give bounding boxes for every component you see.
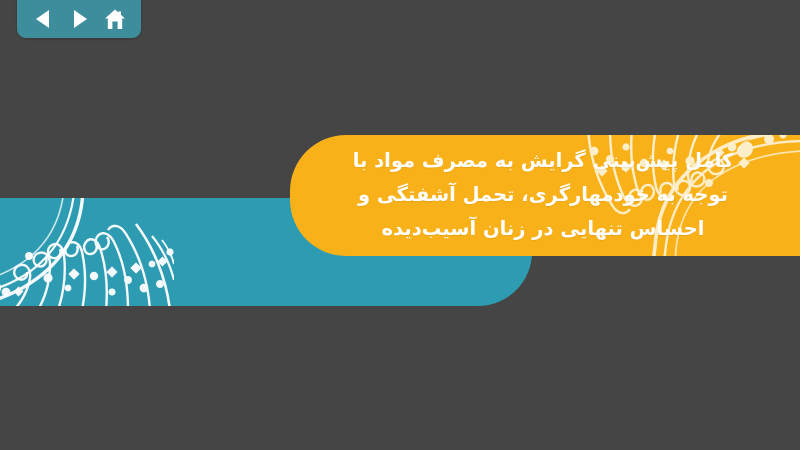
slide-title: کامل پیش‌بینی گرایش به مصرف مواد با توجه… [290, 144, 800, 246]
navigation-toolbar [17, 0, 141, 38]
forward-button[interactable] [64, 6, 94, 32]
home-button[interactable] [100, 6, 130, 32]
back-button[interactable] [28, 6, 58, 32]
back-arrow-icon [35, 10, 52, 28]
home-icon [104, 9, 126, 30]
slide-canvas: کامل پیش‌بینی گرایش به مصرف مواد با توجه… [0, 0, 800, 450]
orange-title-banner: کامل پیش‌بینی گرایش به مصرف مواد با توجه… [290, 135, 800, 256]
teal-arabesque-ornament-icon [0, 198, 174, 306]
forward-arrow-icon [71, 10, 88, 28]
